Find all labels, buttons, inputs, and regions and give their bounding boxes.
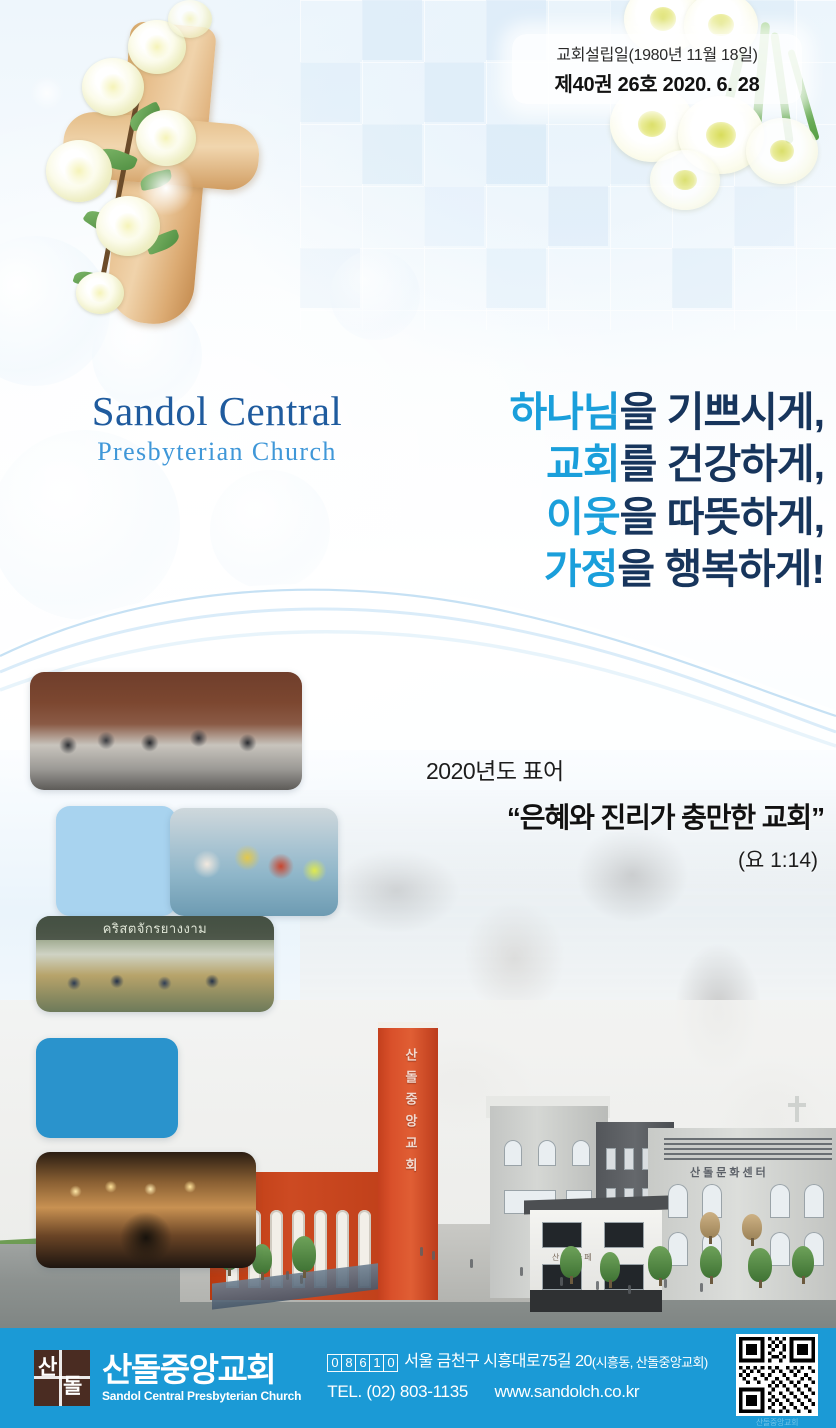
church-logo[interactable]: 산 돌 산돌중앙교회 Sandol Central Presbyterian C… bbox=[34, 1350, 301, 1406]
slogan-keyword-neighbor: 이웃 bbox=[546, 494, 619, 540]
photo-thailand-mission: คริสตจักรยางงาม bbox=[36, 916, 274, 1012]
photo-placeholder-light bbox=[56, 806, 176, 916]
mission-church-sign: คริสตจักรยางงาม bbox=[36, 916, 274, 940]
logo-glyph-dol: 돌 bbox=[63, 1376, 82, 1397]
website-url[interactable]: www.sandolch.co.kr bbox=[494, 1382, 639, 1401]
flower-blossom bbox=[46, 140, 112, 202]
address-line: 0 8 6 1 0 서울 금천구 시흥대로75길 20 (시흥동, 산돌중앙교회… bbox=[327, 1350, 707, 1375]
qr-code-block[interactable]: 산돌중앙교회 bbox=[736, 1334, 818, 1428]
address-detail: (시흥동, 산돌중앙교회) bbox=[592, 1353, 708, 1373]
photo-candlelight-service bbox=[36, 1152, 256, 1268]
issue-number-text: 제40권 26호 2020. 6. 28 bbox=[555, 68, 760, 97]
slogan-line-3: 이웃을 따뜻하게, bbox=[412, 491, 824, 543]
slogan-rest-2: 를 건강하게, bbox=[620, 441, 824, 487]
motto-year-label: 2020년도 표어 bbox=[426, 752, 824, 786]
slogan-rest-4: 을 행복하게! bbox=[617, 546, 824, 592]
address-text: 서울 금천구 시흥대로75길 20 bbox=[404, 1350, 592, 1375]
chrysanthemum-cluster-photo bbox=[606, 0, 836, 215]
slogan-line-1: 하나님을 기쁘시게, bbox=[412, 386, 824, 438]
footer-bar: 산 돌 산돌중앙교회 Sandol Central Presbyterian C… bbox=[0, 1328, 836, 1428]
postal-digit: 1 bbox=[369, 1354, 384, 1372]
logo-name-english: Sandol Central Presbyterian Church bbox=[102, 1389, 301, 1403]
flower-blossom bbox=[168, 0, 212, 38]
slogan-line-4: 가정을 행복하게! bbox=[412, 543, 824, 595]
church-name-english: Sandol Central Presbyterian Church bbox=[52, 390, 382, 467]
slogan-rest-3: 을 따뜻하게, bbox=[620, 494, 824, 540]
postal-code: 0 8 6 1 0 bbox=[327, 1354, 397, 1372]
logo-wordmark: 산돌중앙교회 Sandol Central Presbyterian Churc… bbox=[102, 1353, 301, 1403]
church-slogan: 하나님을 기쁘시게, 교회를 건강하게, 이웃을 따뜻하게, 가정을 행복하게! bbox=[412, 386, 824, 596]
rooftop-cross-icon bbox=[795, 1096, 799, 1122]
bokeh-light-5 bbox=[330, 250, 420, 340]
logo-name-korean: 산돌중앙교회 bbox=[102, 1353, 301, 1387]
telephone-number[interactable]: TEL. (02) 803-1135 bbox=[327, 1382, 468, 1401]
slogan-keyword-god: 하나님 bbox=[509, 389, 619, 435]
contact-info: 0 8 6 1 0 서울 금천구 시흥대로75길 20 (시흥동, 산돌중앙교회… bbox=[327, 1350, 707, 1405]
issue-header: 교회설립일(1980년 11월 18일) 제40권 26호 2020. 6. 2… bbox=[512, 34, 802, 104]
postal-digit: 0 bbox=[383, 1354, 398, 1372]
qr-code-icon[interactable] bbox=[736, 1334, 818, 1416]
logo-glyph-san: 산 bbox=[38, 1357, 57, 1378]
bulletin-cover: 교회설립일(1980년 11월 18일) 제40권 26호 2020. 6. 2… bbox=[0, 0, 836, 1428]
culture-center-sign: 산돌문화센터 bbox=[690, 1164, 769, 1180]
church-name-line2: Presbyterian Church bbox=[52, 437, 382, 467]
mission-church-sign-text: คริสตจักรยางงาม bbox=[103, 918, 208, 939]
slogan-keyword-church: 교회 bbox=[546, 441, 619, 487]
qr-caption: 산돌중앙교회 bbox=[736, 1417, 818, 1428]
flower-blossom bbox=[76, 272, 124, 314]
photo-children-waterpark bbox=[170, 808, 338, 916]
slogan-line-2: 교회를 건강하게, bbox=[412, 438, 824, 490]
photo-youth-group bbox=[30, 672, 302, 790]
telephone-and-website: TEL. (02) 803-1135 www.sandolch.co.kr bbox=[327, 1379, 707, 1405]
church-name-line1: Sandol Central bbox=[52, 390, 382, 433]
flower-blossom bbox=[746, 118, 818, 184]
tower-church-name: 산돌중앙교회 bbox=[398, 1048, 420, 1180]
flower-blossom bbox=[136, 110, 196, 166]
postal-digit: 8 bbox=[341, 1354, 356, 1372]
sandol-logo-icon: 산 돌 bbox=[34, 1350, 90, 1406]
slogan-rest-1: 을 기쁘시게, bbox=[620, 389, 824, 435]
flower-blossom bbox=[82, 58, 144, 116]
bokeh-light-4 bbox=[210, 470, 330, 590]
photo-placeholder-dark bbox=[36, 1038, 178, 1138]
wooden-cross-photo bbox=[0, 0, 320, 350]
motto-text: “은혜와 진리가 충만한 교회” bbox=[392, 796, 824, 836]
founding-date-text: 교회설립일(1980년 11월 18일) bbox=[556, 41, 757, 65]
postal-digit: 6 bbox=[355, 1354, 370, 1372]
flower-blossom bbox=[650, 150, 720, 210]
postal-digit: 0 bbox=[327, 1354, 342, 1372]
motto-scripture-reference: (요 1:14) bbox=[392, 844, 818, 874]
slogan-keyword-family: 가정 bbox=[544, 546, 617, 592]
year-motto-block: 2020년도 표어 “은혜와 진리가 충만한 교회” (요 1:14) bbox=[392, 752, 824, 874]
